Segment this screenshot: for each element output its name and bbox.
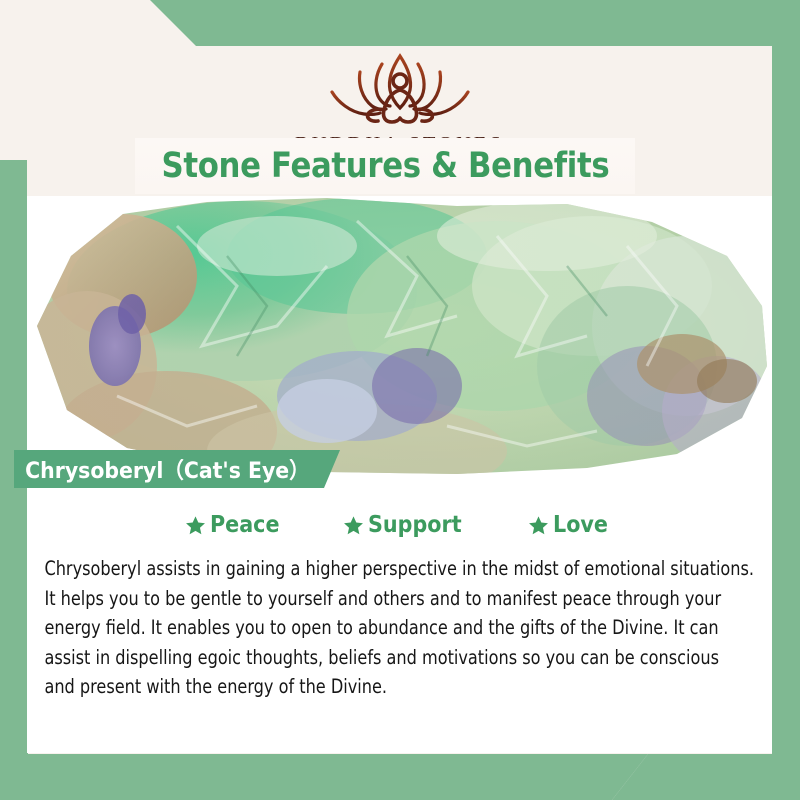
star-icon: [185, 515, 206, 536]
stone-description: Chrysoberyl assists in gaining a higher …: [37, 554, 762, 702]
lotus-meditation-icon: [316, 48, 484, 128]
benefit-tag-list: Peace Support Love: [37, 512, 762, 538]
stone-name-label: Chrysoberyl（Cat's Eye）: [14, 453, 310, 485]
stone-name-banner: Chrysoberyl（Cat's Eye）: [14, 450, 340, 488]
benefit-tag-peace: Peace: [185, 512, 287, 538]
benefit-tag-love: Love: [528, 512, 614, 538]
benefit-tag-support: Support: [343, 512, 472, 538]
benefit-label: Support: [368, 512, 462, 538]
star-icon: [343, 515, 364, 536]
benefit-label: Peace: [210, 512, 279, 538]
content-card: Peace Support Love Chrysoberyl assists i…: [27, 486, 772, 753]
page-title: Stone Features & Benefits: [161, 146, 609, 186]
stone-photo: [27, 196, 772, 486]
benefit-label: Love: [553, 512, 608, 538]
stone-body: [27, 196, 772, 486]
title-band: Stone Features & Benefits: [135, 138, 635, 194]
star-icon: [528, 515, 549, 536]
